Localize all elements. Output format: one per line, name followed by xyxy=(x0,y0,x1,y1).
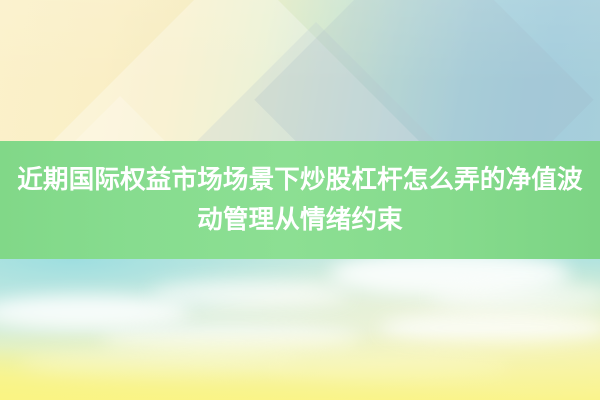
page-title: 近期国际权益市场场景下炒股杠杆怎么弄的净值波动管理从情绪约束 xyxy=(8,160,592,240)
cloud-shape xyxy=(430,283,600,311)
sky-image-band xyxy=(0,259,600,400)
top-band-sheen xyxy=(0,0,600,141)
sky-cyan-wash xyxy=(0,259,330,321)
article-banner: 近期国际权益市场场景下炒股杠杆怎么弄的净值波动管理从情绪约束 xyxy=(0,0,600,400)
cloud-shape xyxy=(330,259,570,297)
top-decorative-band xyxy=(0,0,600,141)
title-band: 近期国际权益市场场景下炒股杠杆怎么弄的净值波动管理从情绪约束 xyxy=(0,141,600,259)
sky-warm-wash xyxy=(0,330,600,400)
